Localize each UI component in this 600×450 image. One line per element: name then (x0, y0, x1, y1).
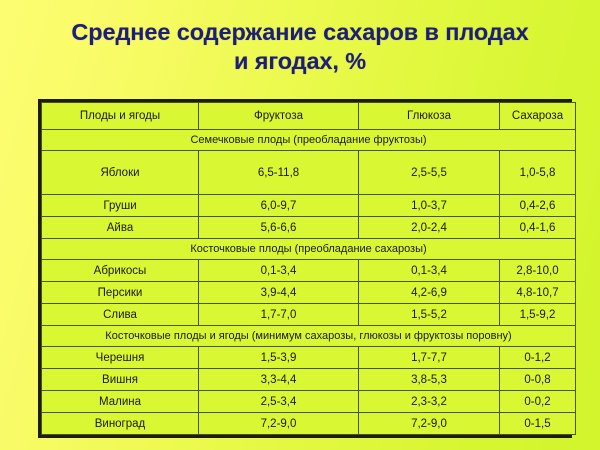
cell-fruit-name: Вишня (42, 369, 199, 391)
slide-canvas: Среднее содержание сахаров в плодах и яг… (0, 0, 600, 450)
cell-sucrose: 1,5-9,2 (500, 304, 576, 326)
cell-glucose: 4,2-6,9 (359, 282, 500, 304)
table-body: Плоды и ягодыФруктозаГлюкозаСахарозаСеме… (42, 103, 576, 435)
cell-fruit-name: Виноград (42, 413, 199, 435)
cell-glucose: 3,8-5,3 (359, 369, 500, 391)
cell-fructose: 5,6-6,6 (199, 217, 359, 239)
table-row: Слива1,7-7,01,5-5,21,5-9,2 (42, 304, 576, 326)
page-title-line-1: Среднее содержание сахаров в плодах (22, 18, 578, 47)
table-row: Малина2,5-3,42,3-3,20-0,2 (42, 391, 576, 413)
cell-fruit-name: Яблоки (42, 151, 199, 195)
cell-fruit-name: Слива (42, 304, 199, 326)
cell-glucose: 1,0-3,7 (359, 195, 500, 217)
cell-fruit-name: Абрикосы (42, 260, 199, 282)
cell-fruit-name: Груши (42, 195, 199, 217)
cell-glucose: 2,5-5,5 (359, 151, 500, 195)
cell-glucose: 2,3-3,2 (359, 391, 500, 413)
table-row: Айва5,6-6,62,0-2,40,4-1,6 (42, 217, 576, 239)
table-row: Абрикосы0,1-3,40,1-3,42,8-10,0 (42, 260, 576, 282)
table-row: Черешня1,5-3,91,7-7,70-1,2 (42, 347, 576, 369)
cell-fructose: 1,5-3,9 (199, 347, 359, 369)
cell-fructose: 2,5-3,4 (199, 391, 359, 413)
table-row: Вишня3,3-4,43,8-5,30-0,8 (42, 369, 576, 391)
cell-sucrose: 0,4-1,6 (500, 217, 576, 239)
cell-glucose: 1,7-7,7 (359, 347, 500, 369)
cell-glucose: 7,2-9,0 (359, 413, 500, 435)
cell-fructose: 6,0-9,7 (199, 195, 359, 217)
cell-fruit-name: Малина (42, 391, 199, 413)
cell-sucrose: 0-0,2 (500, 391, 576, 413)
table-row: Виноград7,2-9,07,2-9,00-1,5 (42, 413, 576, 435)
column-header: Глюкоза (359, 103, 500, 130)
cell-fructose: 3,3-4,4 (199, 369, 359, 391)
table-section-row: Семечковые плоды (преобладание фруктозы) (42, 130, 576, 151)
section-title: Косточковые плоды и ягоды (минимум сахар… (42, 326, 576, 347)
cell-sucrose: 0-0,8 (500, 369, 576, 391)
column-header: Плоды и ягоды (42, 103, 199, 130)
cell-fructose: 0,1-3,4 (199, 260, 359, 282)
cell-sucrose: 0,4-2,6 (500, 195, 576, 217)
cell-fructose: 3,9-4,4 (199, 282, 359, 304)
cell-sucrose: 2,8-10,0 (500, 260, 576, 282)
cell-sucrose: 0-1,5 (500, 413, 576, 435)
cell-fruit-name: Айва (42, 217, 199, 239)
cell-glucose: 1,5-5,2 (359, 304, 500, 326)
table-header-row: Плоды и ягодыФруктозаГлюкозаСахароза (42, 103, 576, 130)
table-row: Яблоки6,5-11,82,5-5,51,0-5,8 (42, 151, 576, 195)
table-row: Груши6,0-9,71,0-3,70,4-2,6 (42, 195, 576, 217)
cell-sucrose: 0-1,2 (500, 347, 576, 369)
sugar-content-table: Плоды и ягодыФруктозаГлюкозаСахарозаСеме… (41, 102, 576, 435)
cell-fruit-name: Персики (42, 282, 199, 304)
section-title: Семечковые плоды (преобладание фруктозы) (42, 130, 576, 151)
cell-fructose: 7,2-9,0 (199, 413, 359, 435)
table-section-row: Косточковые плоды и ягоды (минимум сахар… (42, 326, 576, 347)
cell-fructose: 1,7-7,0 (199, 304, 359, 326)
cell-glucose: 2,0-2,4 (359, 217, 500, 239)
cell-fructose: 6,5-11,8 (199, 151, 359, 195)
page-title-line-2: и ягодах, % (22, 47, 578, 76)
table-row: Персики3,9-4,44,2-6,94,8-10,7 (42, 282, 576, 304)
page-title: Среднее содержание сахаров в плодах и яг… (22, 18, 578, 76)
cell-sucrose: 1,0-5,8 (500, 151, 576, 195)
sugar-content-table-container: Плоды и ягодыФруктозаГлюкозаСахарозаСеме… (38, 99, 572, 438)
cell-sucrose: 4,8-10,7 (500, 282, 576, 304)
column-header: Фруктоза (199, 103, 359, 130)
section-title: Косточковые плоды (преобладание сахарозы… (42, 239, 576, 260)
cell-fruit-name: Черешня (42, 347, 199, 369)
table-section-row: Косточковые плоды (преобладание сахарозы… (42, 239, 576, 260)
column-header: Сахароза (500, 103, 576, 130)
cell-glucose: 0,1-3,4 (359, 260, 500, 282)
